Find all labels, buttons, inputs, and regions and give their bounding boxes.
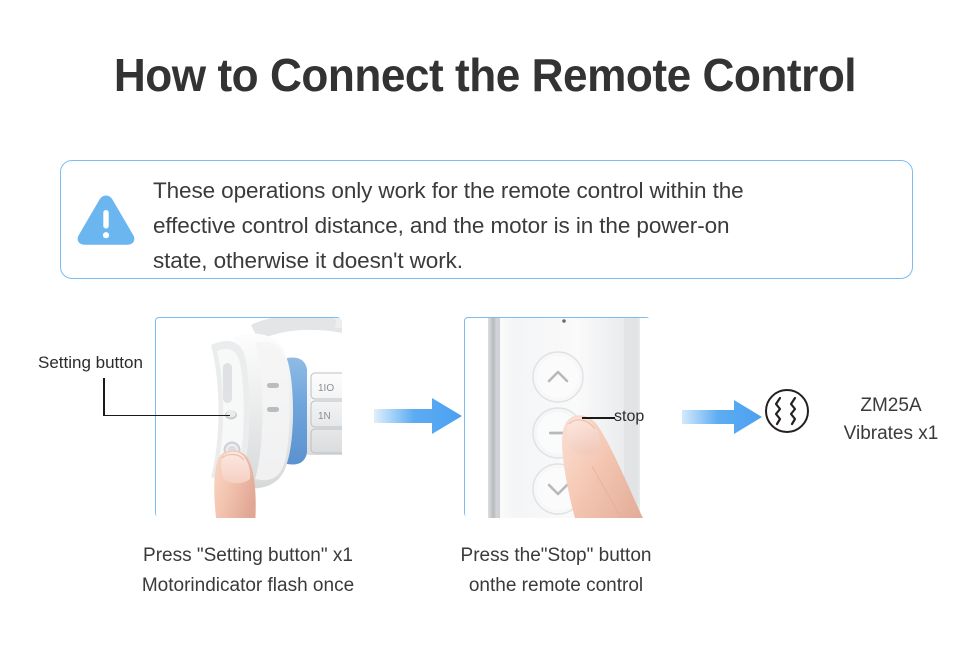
step-2-caption: Press the"Stop" button onthe remote cont…	[400, 541, 712, 601]
warning-triangle-icon	[75, 191, 137, 249]
setting-button-callout-label: Setting button	[38, 353, 143, 373]
step-2-caption-line-2: onthe remote control	[400, 571, 712, 601]
step-1-caption: Press "Setting button" x1 Motorindicator…	[58, 541, 438, 601]
motor-photo: 1IO 1N	[155, 317, 343, 519]
step-2-caption-line-1: Press the"Stop" button	[400, 541, 712, 571]
result-device-name: ZM25A	[816, 392, 966, 420]
result-status: Vibrates x1	[816, 420, 966, 448]
vibration-icon	[764, 388, 810, 434]
svg-text:1IO: 1IO	[318, 383, 334, 394]
motor-photo-panel: 1IO 1N	[155, 317, 341, 517]
svg-text:1N: 1N	[318, 411, 331, 422]
warning-text-line-1: These operations only work for the remot…	[153, 173, 903, 208]
warning-text-line-3: state, otherwise it doesn't work.	[153, 243, 903, 278]
result-text: ZM25A Vibrates x1	[816, 392, 966, 448]
setting-callout-leader-vertical	[103, 378, 105, 416]
step-1-caption-line-1: Press "Setting button" x1	[58, 541, 438, 571]
stop-callout-label: stop	[614, 408, 644, 426]
stop-callout-leader	[582, 417, 615, 419]
flow-arrow-2	[682, 398, 762, 441]
flow-arrow-1	[374, 396, 462, 441]
step-1-caption-line-2: Motorindicator flash once	[58, 571, 438, 601]
warning-text: These operations only work for the remot…	[153, 173, 903, 278]
setting-callout-leader-horizontal	[103, 415, 230, 417]
warning-banner: These operations only work for the remot…	[60, 160, 913, 279]
warning-text-line-2: effective control distance, and the moto…	[153, 208, 903, 243]
page-title: How to Connect the Remote Control	[19, 50, 950, 101]
